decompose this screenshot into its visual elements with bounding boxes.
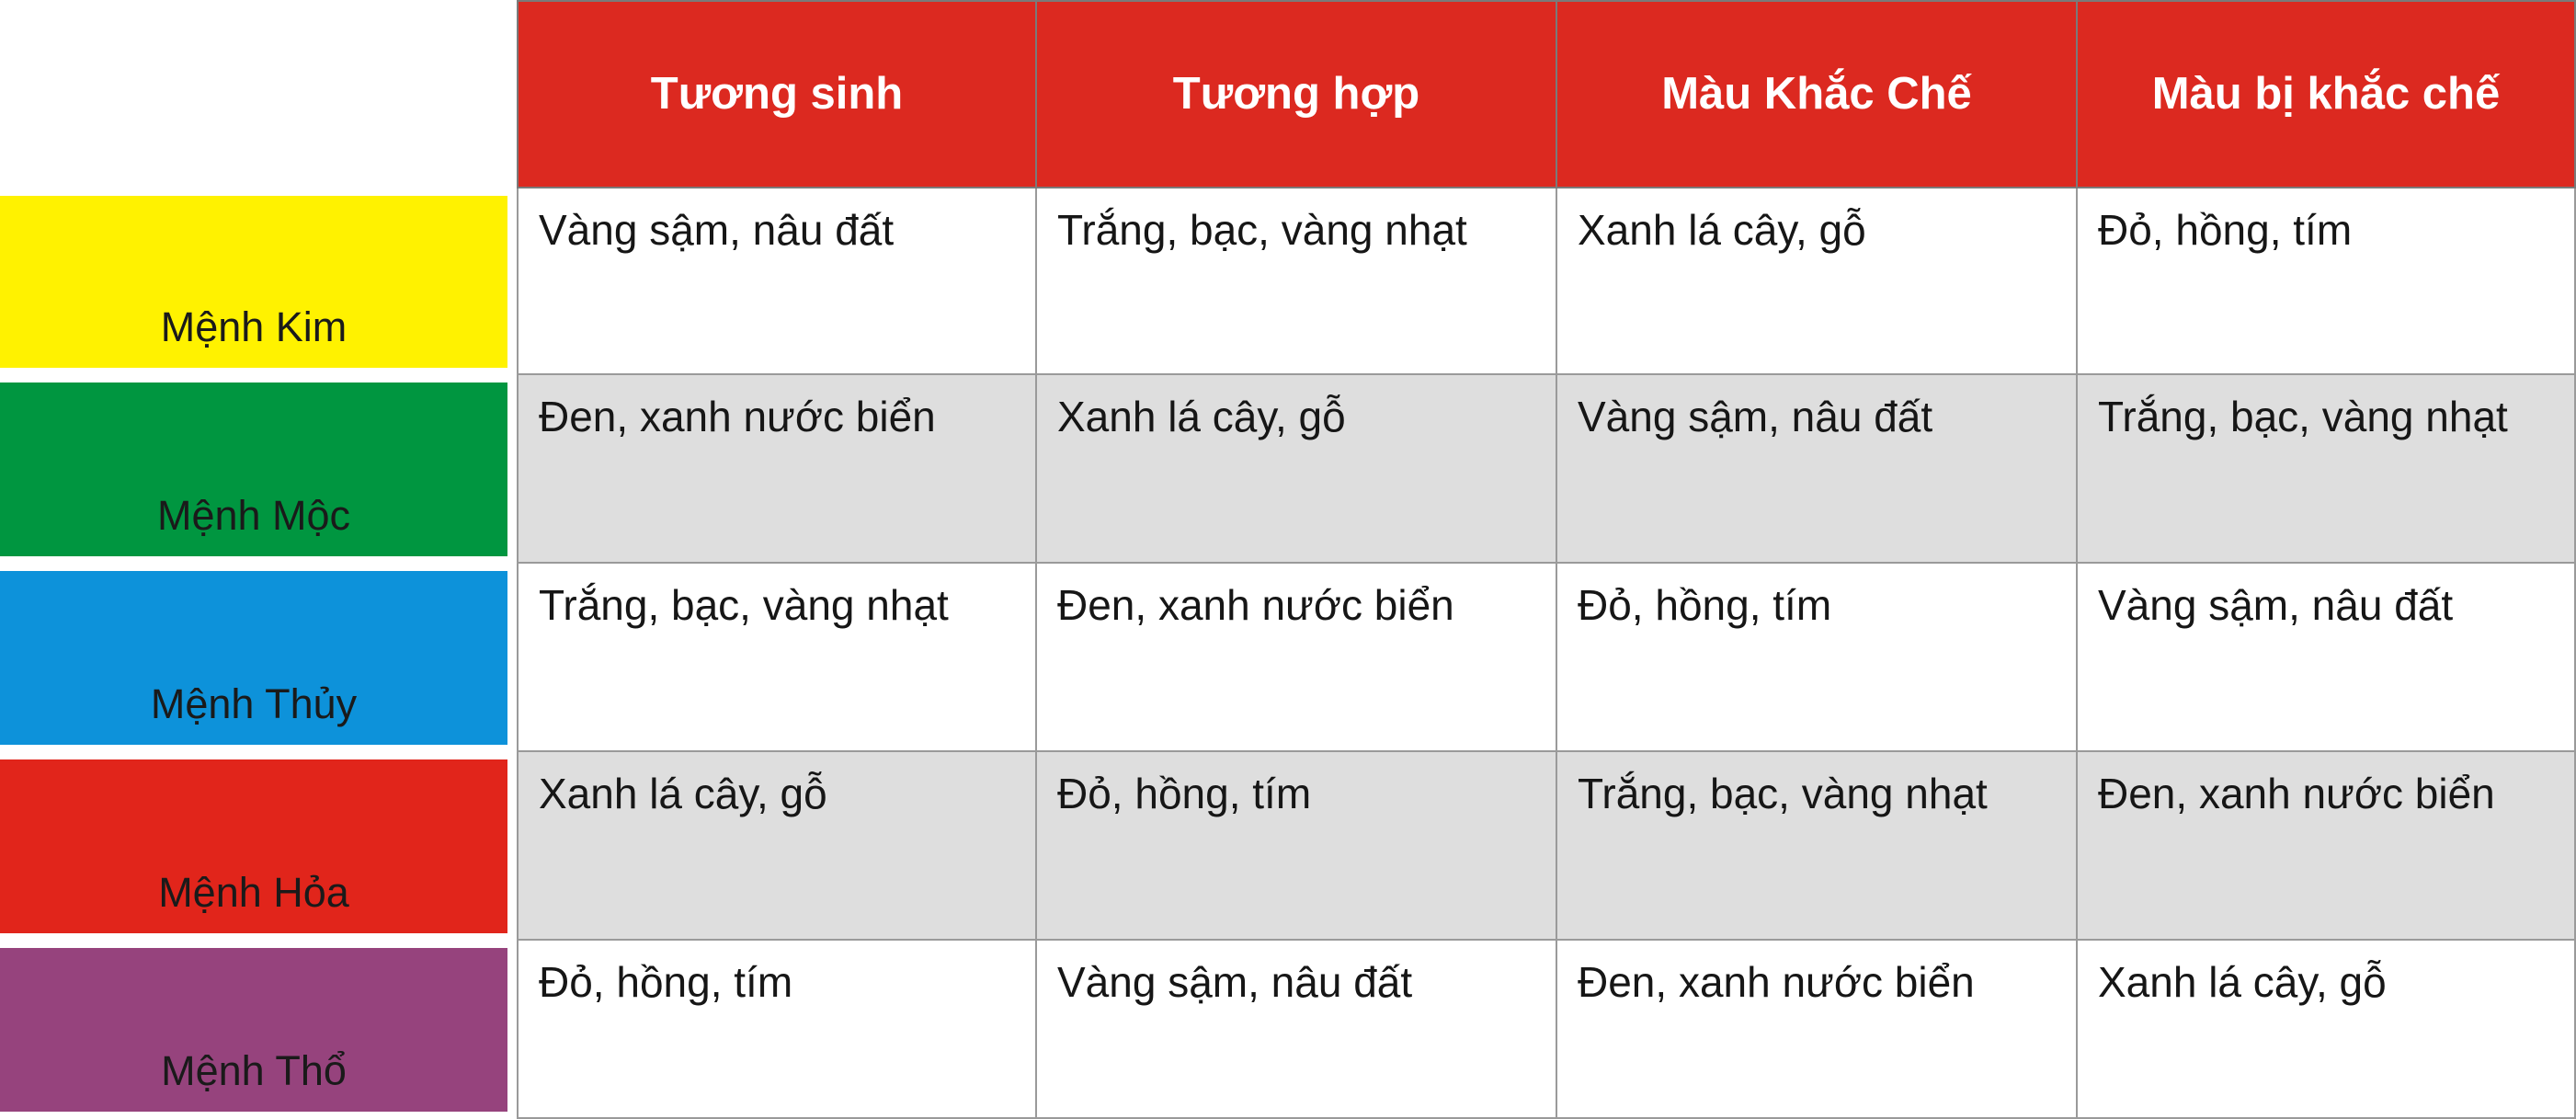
cell-hoa-mau-bi-khac-che: Đen, xanh nước biển bbox=[2078, 752, 2576, 941]
cell-hoa-tuong-sinh: Xanh lá cây, gỗ bbox=[517, 752, 1037, 941]
cell-hoa-tuong-hop: Đỏ, hồng, tím bbox=[1037, 752, 1557, 941]
cell-moc-tuong-sinh: Đen, xanh nước biển bbox=[517, 375, 1037, 564]
element-label-kim: Mệnh Kim bbox=[161, 306, 348, 348]
table-row: Mệnh Mộc bbox=[0, 375, 517, 564]
table-row: Mệnh Hỏa bbox=[0, 752, 517, 941]
element-label-hoa: Mệnh Hỏa bbox=[158, 872, 349, 913]
column-header-tuong-hop: Tương hợp bbox=[1037, 0, 1557, 188]
cell-thuy-mau-bi-khac-che: Vàng sậm, nâu đất bbox=[2078, 564, 2576, 752]
cell-kim-mau-khac-che: Xanh lá cây, gỗ bbox=[1557, 188, 2078, 375]
cell-kim-tuong-hop: Trắng, bạc, vàng nhạt bbox=[1037, 188, 1557, 375]
element-swatch-thuy: Mệnh Thủy bbox=[0, 571, 507, 745]
cell-thuy-mau-khac-che: Đỏ, hồng, tím bbox=[1557, 564, 2078, 752]
cell-tho-tuong-sinh: Đỏ, hồng, tím bbox=[517, 941, 1037, 1119]
cell-tho-mau-bi-khac-che: Xanh lá cây, gỗ bbox=[2078, 941, 2576, 1119]
wuxing-color-table: Tương sinh Tương hợp Màu Khắc Chế Màu bị… bbox=[0, 0, 2576, 1119]
column-header-mau-bi-khac-che: Màu bị khắc chế bbox=[2078, 0, 2576, 188]
cell-kim-tuong-sinh: Vàng sậm, nâu đất bbox=[517, 188, 1037, 375]
cell-thuy-tuong-hop: Đen, xanh nước biển bbox=[1037, 564, 1557, 752]
page-root: Tương sinh Tương hợp Màu Khắc Chế Màu bị… bbox=[0, 0, 2576, 1119]
table-row: Mệnh Thủy bbox=[0, 564, 517, 752]
cell-moc-tuong-hop: Xanh lá cây, gỗ bbox=[1037, 375, 1557, 564]
cell-tho-mau-khac-che: Đen, xanh nước biển bbox=[1557, 941, 2078, 1119]
column-header-mau-khac-che: Màu Khắc Chế bbox=[1557, 0, 2078, 188]
cell-hoa-mau-khac-che: Trắng, bạc, vàng nhạt bbox=[1557, 752, 2078, 941]
cell-tho-tuong-hop: Vàng sậm, nâu đất bbox=[1037, 941, 1557, 1119]
element-swatch-moc: Mệnh Mộc bbox=[0, 383, 507, 556]
element-swatch-hoa: Mệnh Hỏa bbox=[0, 759, 507, 933]
cell-moc-mau-khac-che: Vàng sậm, nâu đất bbox=[1557, 375, 2078, 564]
cell-moc-mau-bi-khac-che: Trắng, bạc, vàng nhạt bbox=[2078, 375, 2576, 564]
table-row: Mệnh Kim bbox=[0, 188, 517, 375]
element-swatch-tho: Mệnh Thổ bbox=[0, 948, 507, 1112]
element-label-moc: Mệnh Mộc bbox=[157, 495, 350, 536]
cell-kim-mau-bi-khac-che: Đỏ, hồng, tím bbox=[2078, 188, 2576, 375]
table-row: Mệnh Thổ bbox=[0, 941, 517, 1119]
column-header-tuong-sinh: Tương sinh bbox=[517, 0, 1037, 188]
cell-thuy-tuong-sinh: Trắng, bạc, vàng nhạt bbox=[517, 564, 1037, 752]
table-corner-cell bbox=[0, 0, 517, 188]
element-label-tho: Mệnh Thổ bbox=[161, 1050, 347, 1091]
element-swatch-kim: Mệnh Kim bbox=[0, 196, 507, 368]
element-label-thuy: Mệnh Thủy bbox=[151, 683, 357, 725]
